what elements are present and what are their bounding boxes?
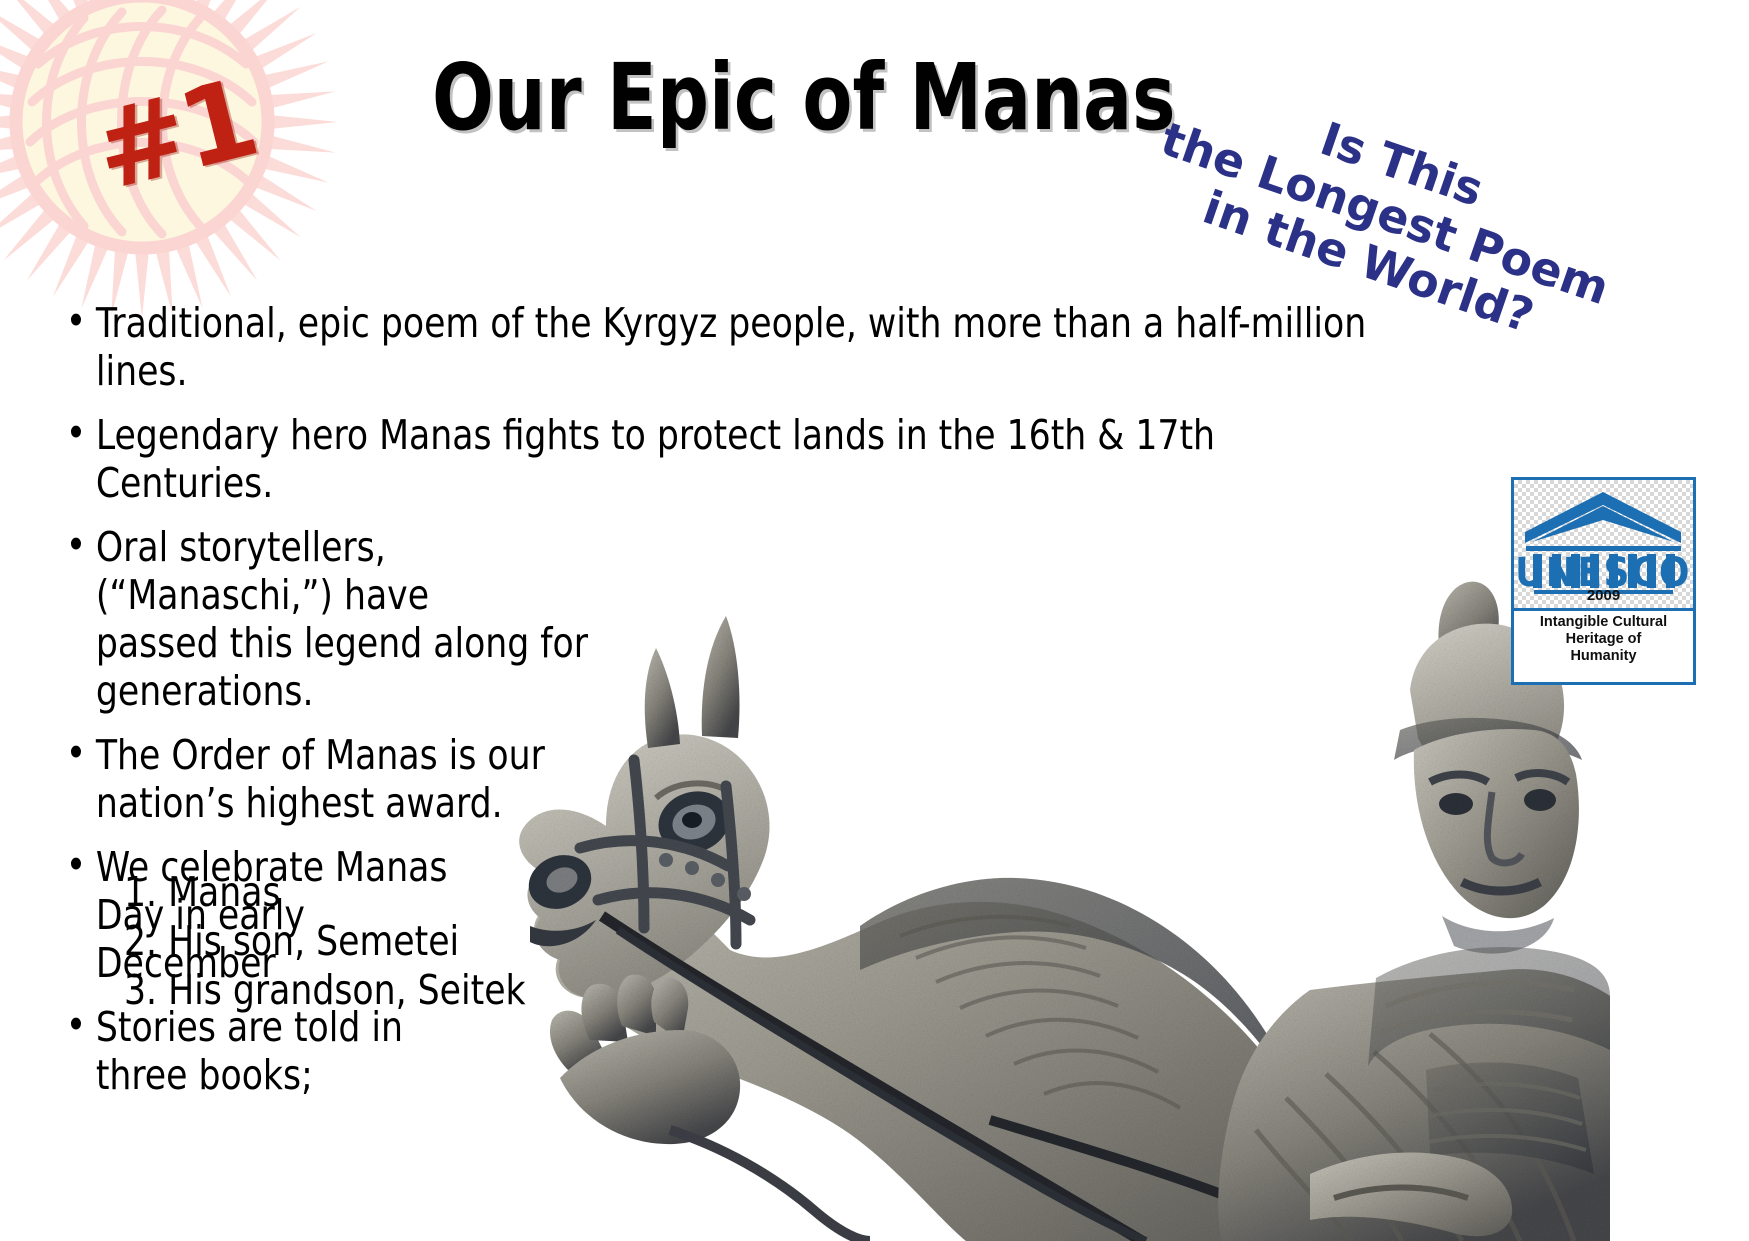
numbered-item: 3. His grandson, Seitek — [124, 966, 526, 1015]
bullet-item: Legendary hero Manas fights to protect l… — [62, 412, 1369, 508]
bullet-item: The Order of Manas is our nation’s highe… — [62, 732, 622, 828]
numbered-sublist: 1. Manas 2. His son, Semetei 3. His gran… — [124, 868, 526, 1016]
rank-marker: #1 — [85, 65, 264, 208]
unesco-year: 2009 — [1514, 588, 1693, 603]
unesco-heritage-logo: UNESCO 2009 Intangible Cultural Heritage… — [1511, 477, 1696, 685]
bullet-item: Traditional, epic poem of the Kyrgyz peo… — [62, 300, 1369, 396]
unesco-caption-line: Heritage of — [1516, 631, 1691, 648]
numbered-item: 2. His son, Semetei — [124, 917, 526, 966]
unesco-temple-icon: UNESCO — [1514, 480, 1693, 602]
unesco-caption-line: Humanity — [1516, 648, 1691, 665]
slide-canvas: #1 Our Epic of Manas Is This the Longest… — [0, 0, 1749, 1241]
unesco-caption: Intangible Cultural Heritage of Humanity — [1514, 611, 1693, 682]
unesco-caption-line: Intangible Cultural — [1516, 614, 1691, 631]
unesco-emblem: UNESCO 2009 — [1514, 480, 1693, 611]
bullet-item: Oral storytellers, (“Manaschi,”) have pa… — [62, 524, 622, 716]
page-title: Our Epic of Manas — [432, 52, 1175, 144]
numbered-item: 1. Manas — [124, 868, 526, 917]
bullet-item: Stories are told in three books; — [62, 1004, 622, 1100]
